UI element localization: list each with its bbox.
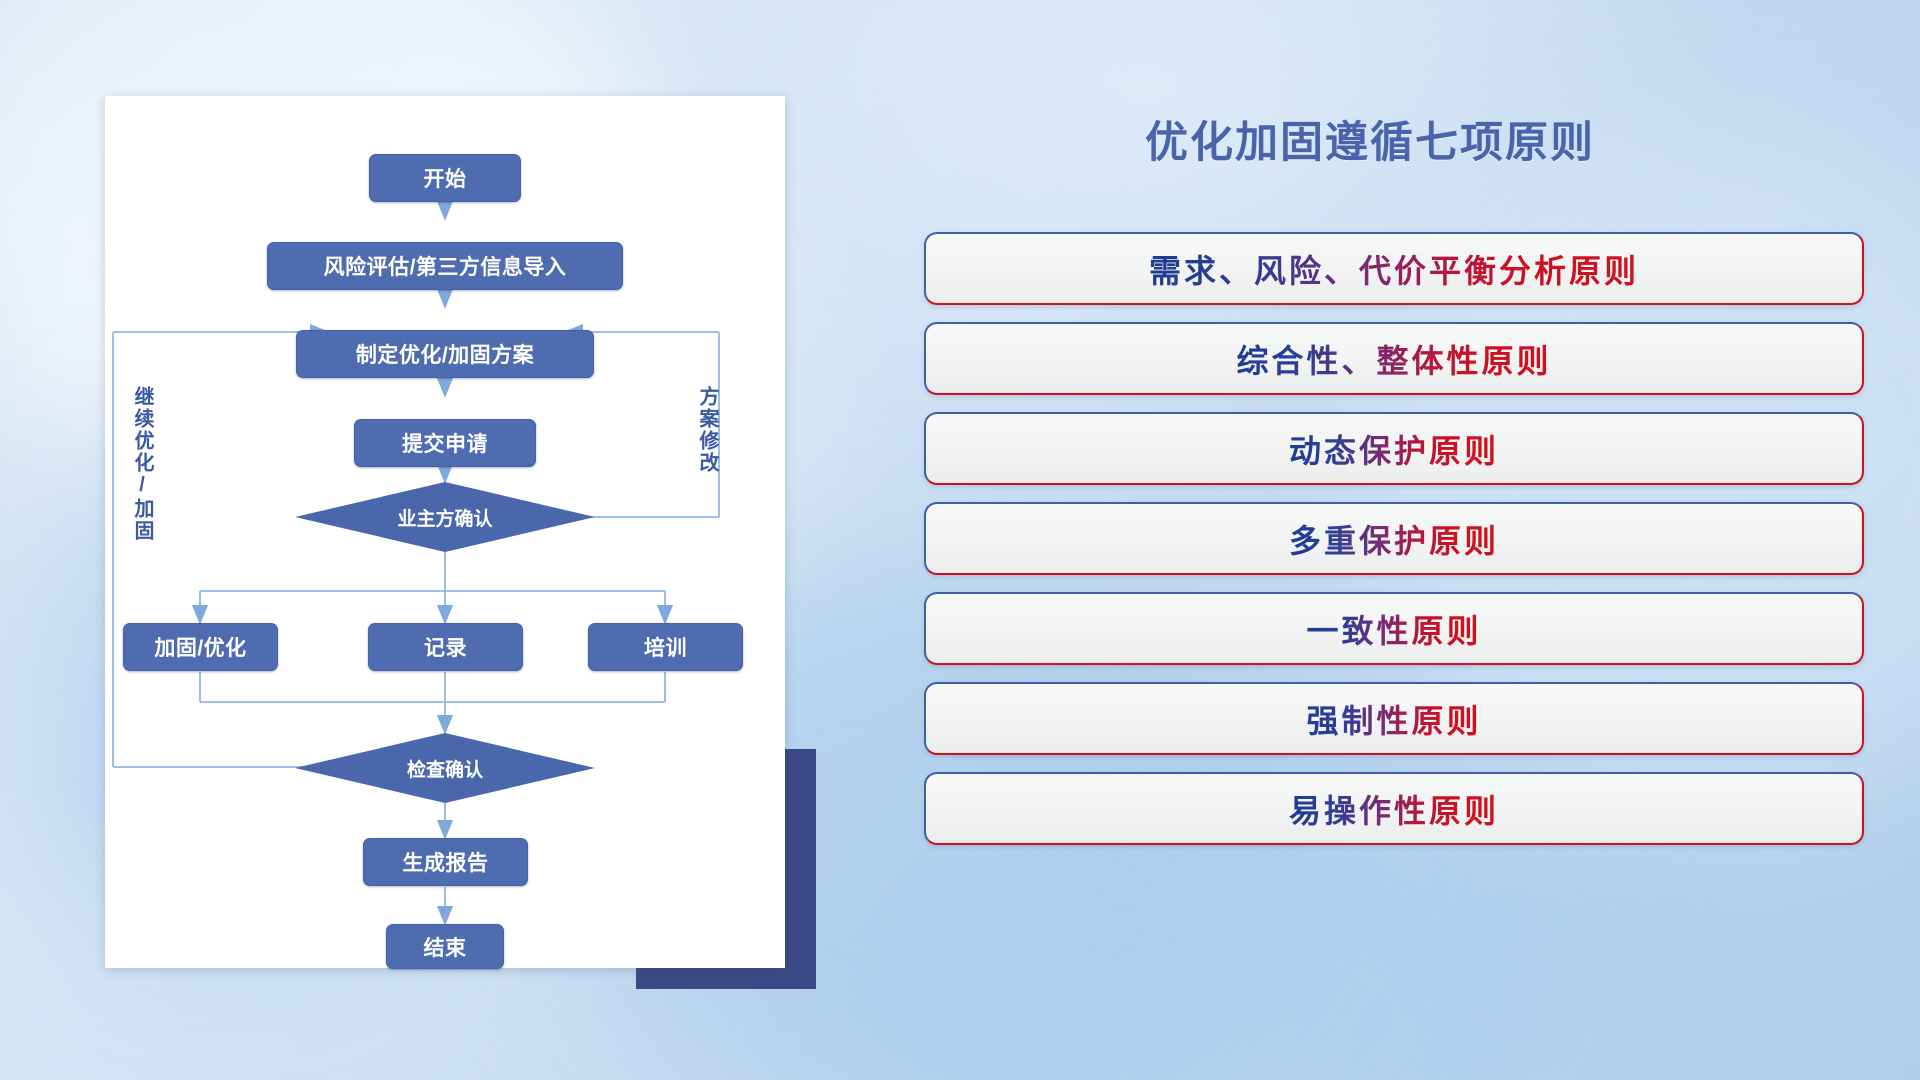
flow-node-plan[interactable]: 制定优化/加固方案	[296, 330, 594, 378]
principle-item-3-label: 动态保护原则	[1289, 426, 1499, 472]
principle-item-2-label: 综合性、整体性原则	[1236, 336, 1551, 382]
principle-item-4-label: 多重保护原则	[1289, 516, 1499, 562]
flow-node-report-label: 生成报告	[403, 847, 489, 877]
principle-item-3[interactable]: 动态保护原则	[924, 412, 1864, 485]
page-title: 优化加固遵循七项原则	[900, 108, 1840, 170]
principles-list: 需求、风险、代价平衡分析原则 综合性、整体性原则 动态保护原则 多重保护原则 一…	[924, 232, 1864, 862]
flow-edge-label-plan-revision: 方案修改	[696, 386, 717, 516]
principle-item-7[interactable]: 易操作性原则	[924, 772, 1864, 845]
flow-node-training-label: 培训	[644, 632, 687, 662]
principle-item-1-label: 需求、风险、代价平衡分析原则	[1149, 246, 1639, 292]
flow-node-risk-assessment-label: 风险评估/第三方信息导入	[324, 251, 567, 281]
principle-item-5[interactable]: 一致性原则	[924, 592, 1864, 665]
flow-node-end-label: 结束	[424, 932, 467, 962]
flow-node-submit-label: 提交申请	[402, 428, 488, 458]
flow-node-start[interactable]: 开始	[369, 154, 521, 202]
flow-node-owner-confirm-label: 业主方确认	[397, 504, 492, 531]
flow-node-start-label: 开始	[424, 163, 467, 193]
flow-node-record[interactable]: 记录	[368, 623, 523, 671]
flow-node-check-confirm-label: 检查确认	[407, 755, 483, 782]
flow-node-training[interactable]: 培训	[588, 623, 743, 671]
principle-item-2[interactable]: 综合性、整体性原则	[924, 322, 1864, 395]
principles-panel: 优化加固遵循七项原则 需求、风险、代价平衡分析原则 综合性、整体性原则 动态保护…	[900, 0, 1920, 1080]
principle-item-6[interactable]: 强制性原则	[924, 682, 1864, 755]
flow-edge-label-continue-optimize: 继续优化/加固	[131, 386, 152, 576]
flow-node-reinforce-label: 加固/优化	[154, 632, 246, 662]
flowchart-card: 开始 风险评估/第三方信息导入 制定优化/加固方案 提交申请 业主方确认 加固/…	[105, 96, 785, 968]
flow-node-report[interactable]: 生成报告	[363, 838, 528, 886]
principle-item-5-label: 一致性原则	[1306, 606, 1481, 652]
principle-item-1[interactable]: 需求、风险、代价平衡分析原则	[924, 232, 1864, 305]
flow-node-reinforce[interactable]: 加固/优化	[123, 623, 278, 671]
flowchart-diagram: 开始 风险评估/第三方信息导入 制定优化/加固方案 提交申请 业主方确认 加固/…	[105, 96, 785, 968]
flow-node-submit[interactable]: 提交申请	[354, 419, 536, 467]
principle-item-4[interactable]: 多重保护原则	[924, 502, 1864, 575]
flow-node-plan-label: 制定优化/加固方案	[356, 339, 534, 369]
flow-node-risk-assessment[interactable]: 风险评估/第三方信息导入	[267, 242, 623, 290]
principle-item-6-label: 强制性原则	[1306, 696, 1481, 742]
flow-node-record-label: 记录	[424, 632, 467, 662]
flowchart-panel: 开始 风险评估/第三方信息导入 制定优化/加固方案 提交申请 业主方确认 加固/…	[0, 0, 900, 1080]
flow-node-end[interactable]: 结束	[386, 924, 504, 969]
principle-item-7-label: 易操作性原则	[1289, 786, 1499, 832]
